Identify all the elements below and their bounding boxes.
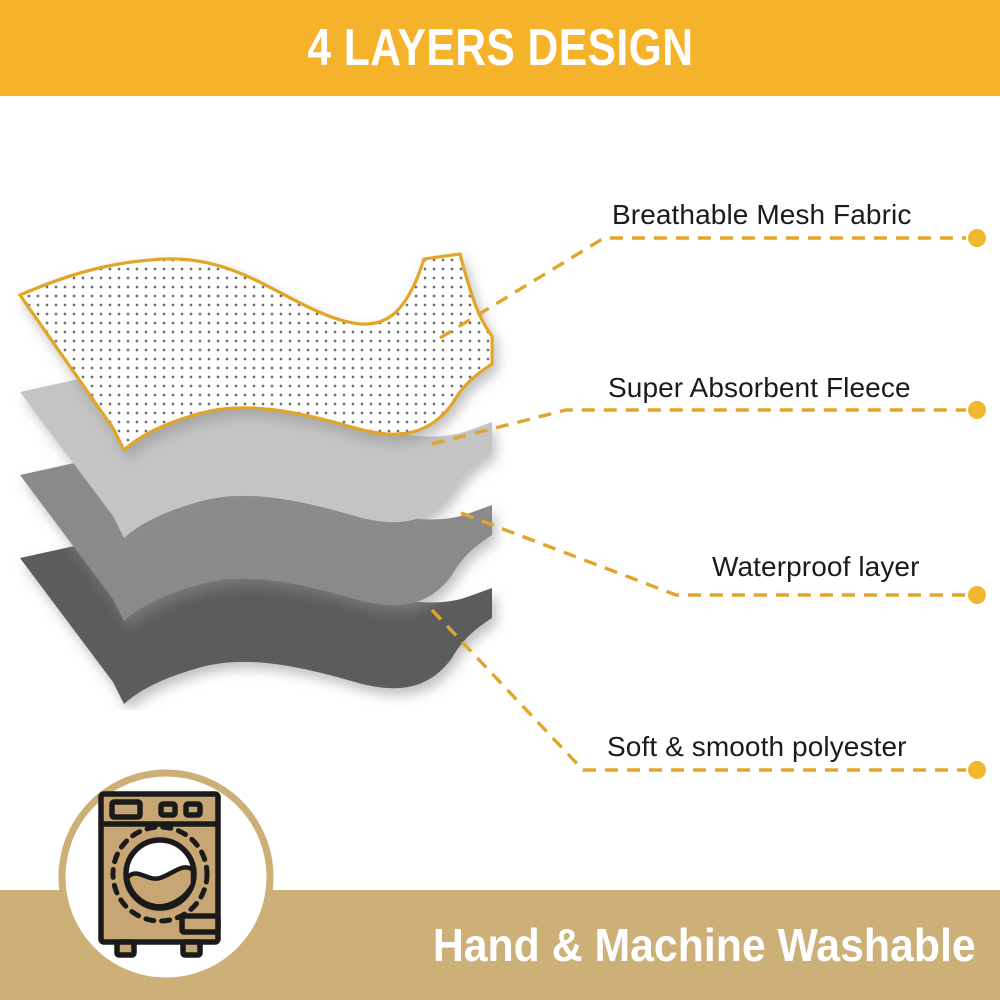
endpoint-dot-2 <box>968 401 986 419</box>
callout-label-2: Super Absorbent Fleece <box>608 372 911 404</box>
endpoint-dot-4 <box>968 761 986 779</box>
callout-label-4: Soft & smooth polyester <box>607 731 907 763</box>
page-title: 4 LAYERS DESIGN <box>307 22 693 74</box>
footer-title: Hand & Machine Washable <box>433 918 976 972</box>
header-banner: 4 LAYERS DESIGN <box>0 0 1000 96</box>
layer-stack-illustration <box>0 240 580 710</box>
endpoint-dot-3 <box>968 586 986 604</box>
washing-machine-badge <box>55 766 277 988</box>
infographic-canvas: 4 LAYERS DESIGN <box>0 0 1000 1000</box>
callout-label-1: Breathable Mesh Fabric <box>612 199 911 231</box>
washing-machine-icon <box>101 794 218 955</box>
endpoint-dot-1 <box>968 229 986 247</box>
callout-label-3: Waterproof layer <box>712 551 920 583</box>
